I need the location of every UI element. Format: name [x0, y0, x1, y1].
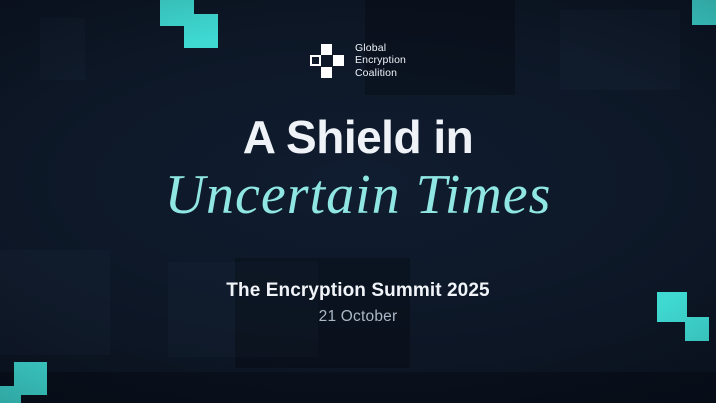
headline-line-2: Uncertain Times — [165, 164, 552, 226]
global-encryption-coalition-mark-icon — [310, 44, 344, 78]
logo-lockup: Global Encryption Coalition — [310, 42, 406, 79]
poster-content: Global Encryption Coalition A Shield in … — [0, 0, 716, 403]
logo-square-top — [321, 44, 332, 55]
logo-square-bottom — [321, 67, 332, 78]
logo-square-right — [333, 55, 344, 66]
logo-wordmark: Global Encryption Coalition — [355, 42, 406, 79]
event-date: 21 October — [319, 307, 398, 326]
headline-line-1: A Shield in — [243, 112, 473, 162]
logo-square-left-outline — [310, 55, 321, 66]
event-name: The Encryption Summit 2025 — [226, 279, 489, 303]
event-poster: Global Encryption Coalition A Shield in … — [0, 0, 716, 403]
